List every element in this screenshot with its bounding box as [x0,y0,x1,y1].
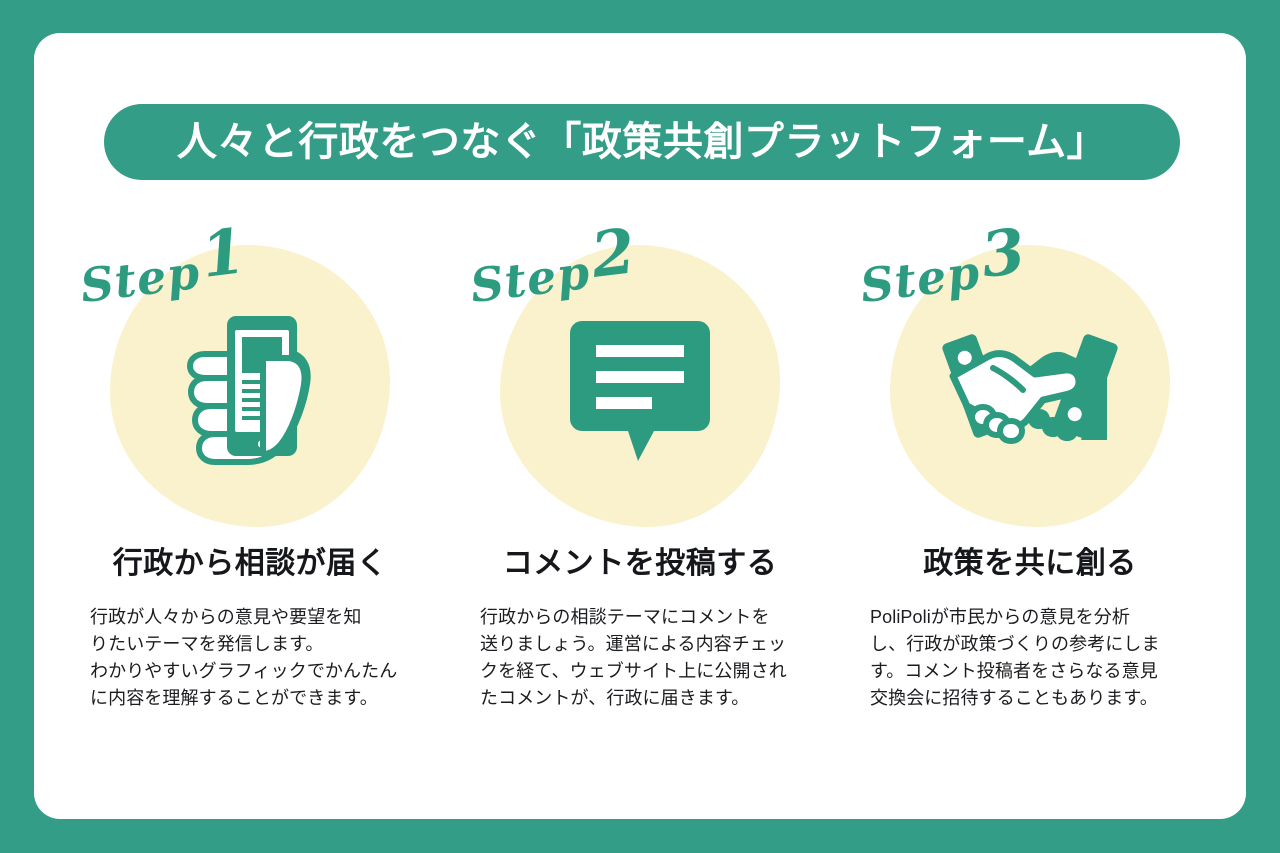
step-3-body-line-1: PoliPoliが市民からの意見を分析 [870,604,1190,631]
step-3-number: 3 [977,214,1030,292]
step-1-graphic: Step1 [70,232,430,532]
step-2-title: コメントを投稿する [460,546,820,582]
step-1-title: 行政から相談が届く [70,546,430,582]
step-3-body-line-4: 交換会に招待することもあります。 [870,685,1190,712]
hand-holding-phone-icon [175,310,325,475]
step-column-1: Step1 [70,232,430,712]
step-3-icon-wrap [850,292,1210,492]
speech-bubble-icon [568,319,712,465]
step-2-number: 2 [587,214,640,292]
step-column-3: Step3 [850,232,1210,712]
step-1-icon-wrap [70,292,430,492]
steps-container: Step1 [70,232,1210,712]
step-column-2: Step2 コメントを投稿する 行政からの相談テーマにコメントを 送りましょう。… [460,232,820,712]
step-3-body-line-3: す。コメント投稿者をさらなる意見 [870,658,1190,685]
step-2-body: 行政からの相談テーマにコメントを 送りましょう。運営による内容チェッ クを経て、… [460,604,820,712]
step-1-number: 1 [197,214,250,292]
step-3-title: 政策を共に創る [850,546,1210,582]
step-1-body-line-3: わかりやすいグラフィックでかんたん [90,658,410,685]
step-3-body: PoliPoliが市民からの意見を分析 し、行政が政策づくりの参考にしま す。コ… [850,604,1210,712]
step-2-body-line-3: クを経て、ウェブサイト上に公開され [480,658,800,685]
step-1-body-line-2: りたいテーマを発信します。 [90,631,410,658]
step-1-body-line-1: 行政が人々からの意見や要望を知 [90,604,410,631]
step-1-body-line-4: に内容を理解することができます。 [90,685,410,712]
step-2-body-line-4: たコメントが、行政に届きます。 [480,685,800,712]
step-1-body: 行政が人々からの意見や要望を知 りたいテーマを発信します。 わかりやすいグラフィ… [70,604,430,712]
page-title: 人々と行政をつなぐ「政策共創プラットフォーム」 [177,122,1107,162]
header-banner: 人々と行政をつなぐ「政策共創プラットフォーム」 [104,104,1180,180]
step-3-body-line-2: し、行政が政策づくりの参考にしま [870,631,1190,658]
step-2-body-line-2: 送りましょう。運営による内容チェッ [480,631,800,658]
step-2-graphic: Step2 [460,232,820,532]
step-3-graphic: Step3 [850,232,1210,532]
poster-stage: 人々と行政をつなぐ「政策共創プラットフォーム」 Step1 [0,0,1280,853]
handshake-icon [931,328,1129,456]
step-2-body-line-1: 行政からの相談テーマにコメントを [480,604,800,631]
step-2-icon-wrap [460,292,820,492]
